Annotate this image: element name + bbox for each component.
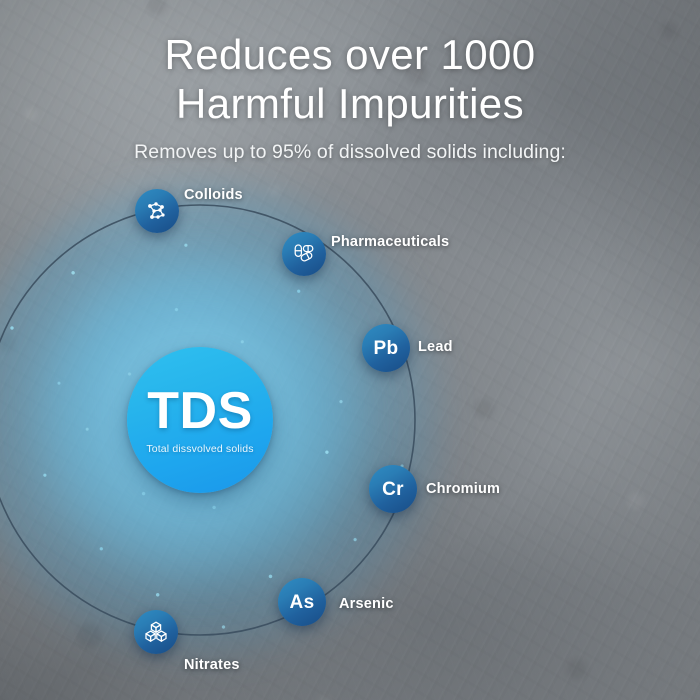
impurity-label-lead: Lead <box>418 339 453 355</box>
element-symbol-chromium: Cr <box>382 480 404 499</box>
impurity-node-chromium[interactable]: Cr <box>369 465 417 513</box>
impurity-node-lead[interactable]: Pb <box>362 324 410 372</box>
cubes-stack-icon <box>143 619 169 645</box>
impurity-node-colloids[interactable] <box>135 189 179 233</box>
impurity-label-colloids: Colloids <box>184 187 243 203</box>
tds-center-bubble[interactable]: TDS Total dissvolved solids <box>127 347 273 493</box>
infographic-canvas: Reduces over 1000 Harmful Impurities Rem… <box>0 0 700 700</box>
impurity-node-pharmaceuticals[interactable] <box>282 232 326 276</box>
orbit-ring <box>0 0 700 700</box>
impurity-node-arsenic[interactable]: As <box>278 578 326 626</box>
element-symbol-lead: Pb <box>374 339 399 358</box>
molecule-network-icon <box>144 198 170 224</box>
tds-acronym: TDS <box>147 385 253 437</box>
pills-capsules-icon <box>291 241 317 267</box>
element-symbol-arsenic: As <box>290 593 315 612</box>
impurity-node-nitrates[interactable] <box>134 610 178 654</box>
impurity-label-pharmaceuticals: Pharmaceuticals <box>331 234 449 250</box>
impurity-label-nitrates: Nitrates <box>184 657 240 673</box>
impurity-label-arsenic: Arsenic <box>339 596 394 612</box>
impurity-label-chromium: Chromium <box>426 481 500 497</box>
tds-caption: Total dissvolved solids <box>146 443 253 455</box>
